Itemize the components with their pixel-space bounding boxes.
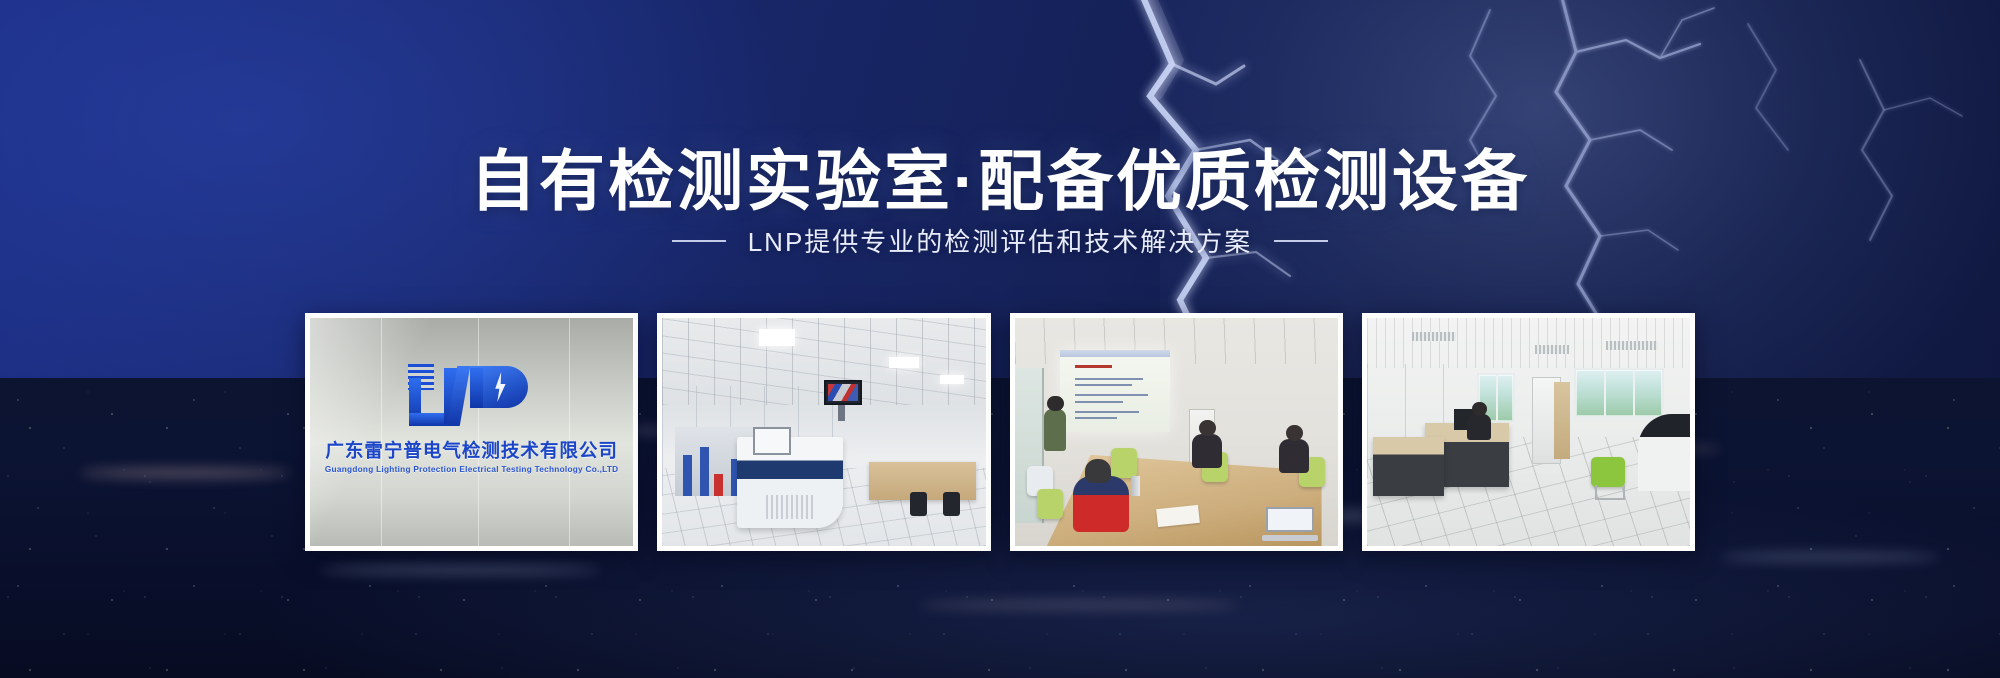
attendee-person-left bbox=[1192, 434, 1222, 468]
office-area-photo bbox=[1367, 318, 1690, 546]
rule-left-icon bbox=[672, 240, 726, 242]
wall-monitor bbox=[824, 380, 862, 405]
reception-counter bbox=[1638, 414, 1690, 492]
green-chair bbox=[1591, 457, 1625, 487]
company-name-cn: 广东雷宁普电气检测技术有限公司 bbox=[310, 437, 633, 463]
banner-subtitle: LNP提供专业的检测评估和技术解决方案 bbox=[748, 222, 1253, 259]
gallery-item-testing-laboratory[interactable] bbox=[657, 313, 990, 551]
gallery-row: 广东雷宁普电气检测技术有限公司 Guangdong Lighting Prote… bbox=[305, 313, 1695, 551]
presenter-person bbox=[1044, 409, 1066, 451]
meeting-room-photo bbox=[1015, 318, 1338, 546]
attendee-person-front bbox=[1073, 476, 1129, 532]
office-worker-person bbox=[1467, 414, 1491, 440]
banner-subtitle-row: LNP提供专业的检测评估和技术解决方案 bbox=[0, 222, 2000, 259]
laptop bbox=[1262, 507, 1318, 541]
banner-headline: 自有检测实验室·配备优质检测设备 bbox=[0, 128, 2000, 224]
company-name-en: Guangdong Lighting Protection Electrical… bbox=[310, 465, 633, 474]
attendee-person-right bbox=[1279, 439, 1309, 473]
projection-screen bbox=[1060, 350, 1170, 432]
gallery-item-company-logo-wall[interactable]: 广东雷宁普电气检测技术有限公司 Guangdong Lighting Prote… bbox=[305, 313, 638, 551]
hero-banner: 自有检测实验室·配备优质检测设备 LNP提供专业的检测评估和技术解决方案 bbox=[0, 0, 2000, 678]
company-logo-wall-photo: 广东雷宁普电气检测技术有限公司 Guangdong Lighting Prote… bbox=[310, 318, 633, 546]
gallery-item-office-area[interactable] bbox=[1362, 313, 1695, 551]
rule-right-icon bbox=[1274, 240, 1328, 242]
lnp-logo-icon bbox=[408, 362, 536, 426]
testing-laboratory-photo bbox=[662, 318, 985, 546]
gallery-item-meeting-room[interactable] bbox=[1010, 313, 1343, 551]
